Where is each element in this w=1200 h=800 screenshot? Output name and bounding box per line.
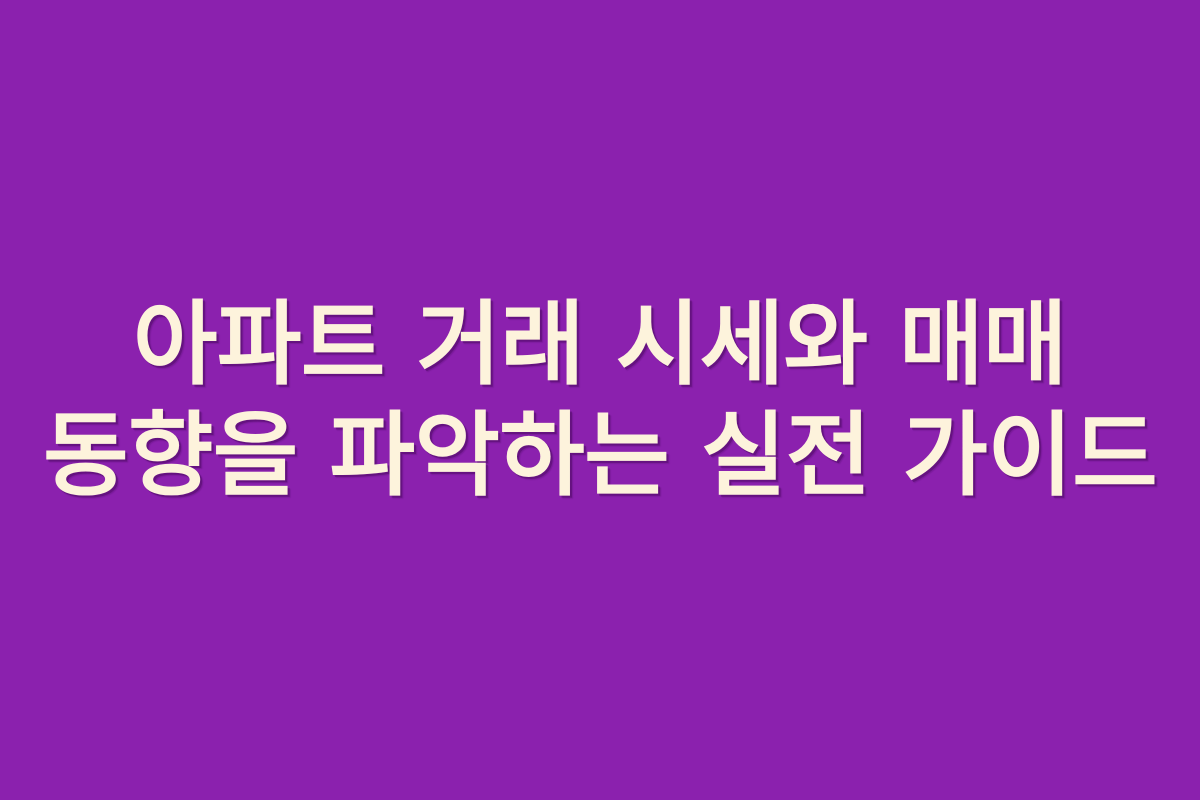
page-title: 아파트 거래 시세와 매매 동향을 파악하는 실전 가이드 xyxy=(0,289,1200,511)
banner-canvas: 아파트 거래 시세와 매매 동향을 파악하는 실전 가이드 xyxy=(0,0,1200,800)
title-line-2: 동향을 파악하는 실전 가이드 xyxy=(43,400,1157,511)
title-line-1: 아파트 거래 시세와 매매 xyxy=(133,289,1067,400)
